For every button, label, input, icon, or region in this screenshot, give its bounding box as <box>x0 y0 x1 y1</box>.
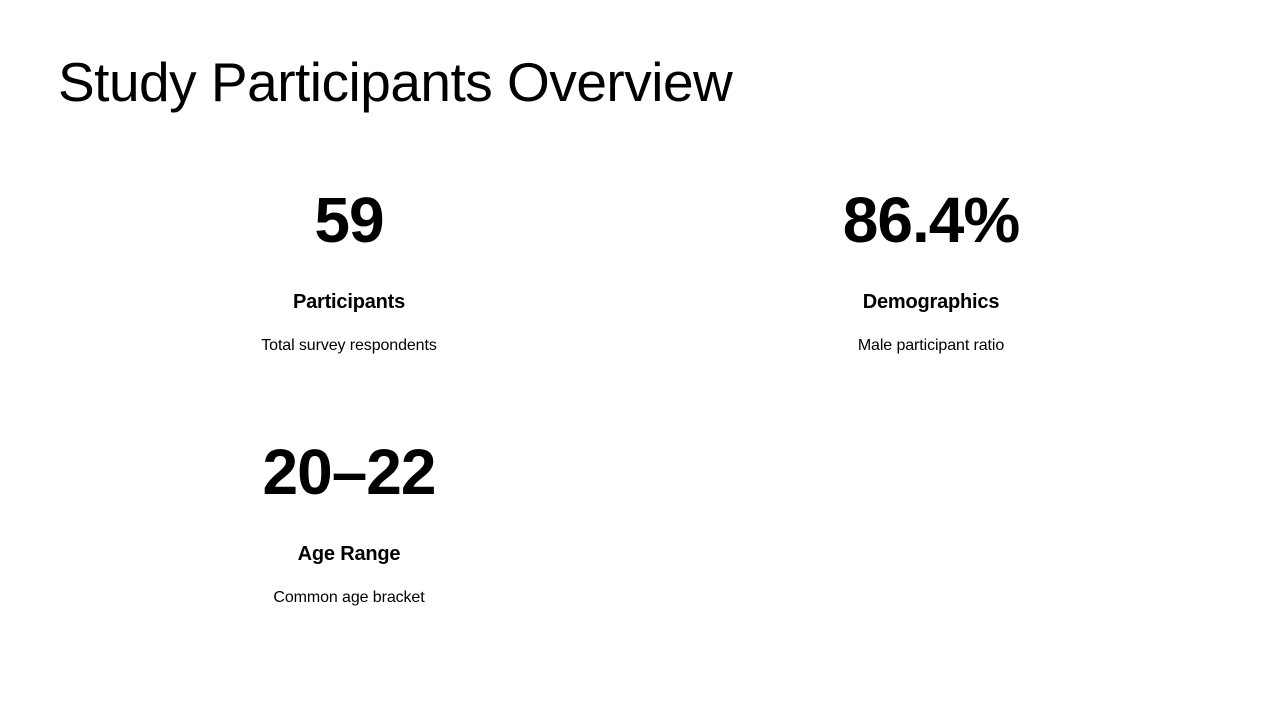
stat-label: Age Range <box>298 542 401 566</box>
stat-block: 86.4% Demographics Male participant rati… <box>640 180 1222 432</box>
stat-description: Common age bracket <box>273 588 424 609</box>
stat-description: Total survey respondents <box>261 336 436 357</box>
slide-canvas: Study Participants Overview 59 Participa… <box>0 0 1280 720</box>
stat-value: 59 <box>314 188 383 252</box>
stat-value: 86.4% <box>843 188 1019 252</box>
stat-block: 20–22 Age Range Common age bracket <box>58 432 640 684</box>
stat-block: 59 Participants Total survey respondents <box>58 180 640 432</box>
page-title: Study Participants Overview <box>58 52 732 113</box>
stat-label: Participants <box>293 290 405 314</box>
stat-label: Demographics <box>863 290 1000 314</box>
stats-grid: 59 Participants Total survey respondents… <box>58 180 1222 684</box>
stat-description: Male participant ratio <box>858 336 1004 357</box>
stat-value: 20–22 <box>263 440 436 504</box>
